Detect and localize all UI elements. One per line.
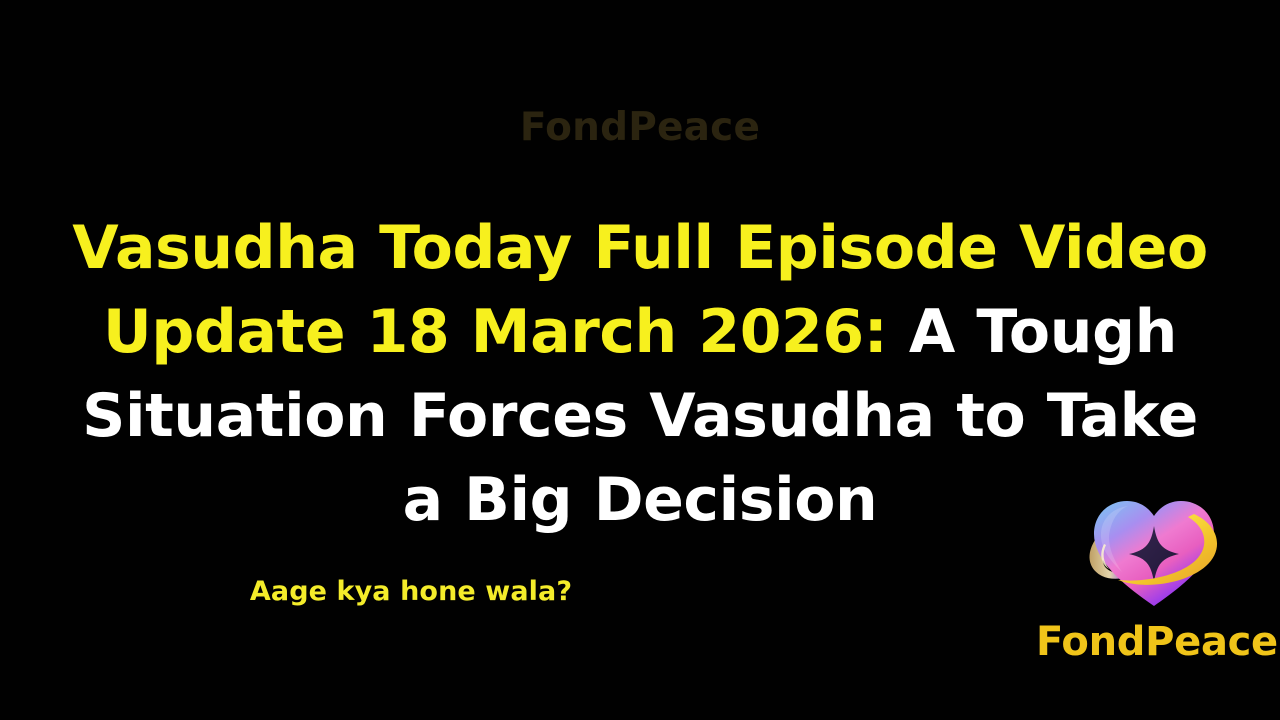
brand-logo: FondPeace xyxy=(1036,484,1276,672)
heart-with-star-and-orbit-icon xyxy=(1078,484,1230,616)
thumbnail-canvas: FondPeace Vasudha Today Full Episode Vid… xyxy=(0,0,1280,720)
brand-wordmark: FondPeace xyxy=(1036,618,1276,666)
background-watermark: FondPeace xyxy=(0,105,1280,151)
subtitle: Aage kya hone wala? xyxy=(0,574,822,610)
